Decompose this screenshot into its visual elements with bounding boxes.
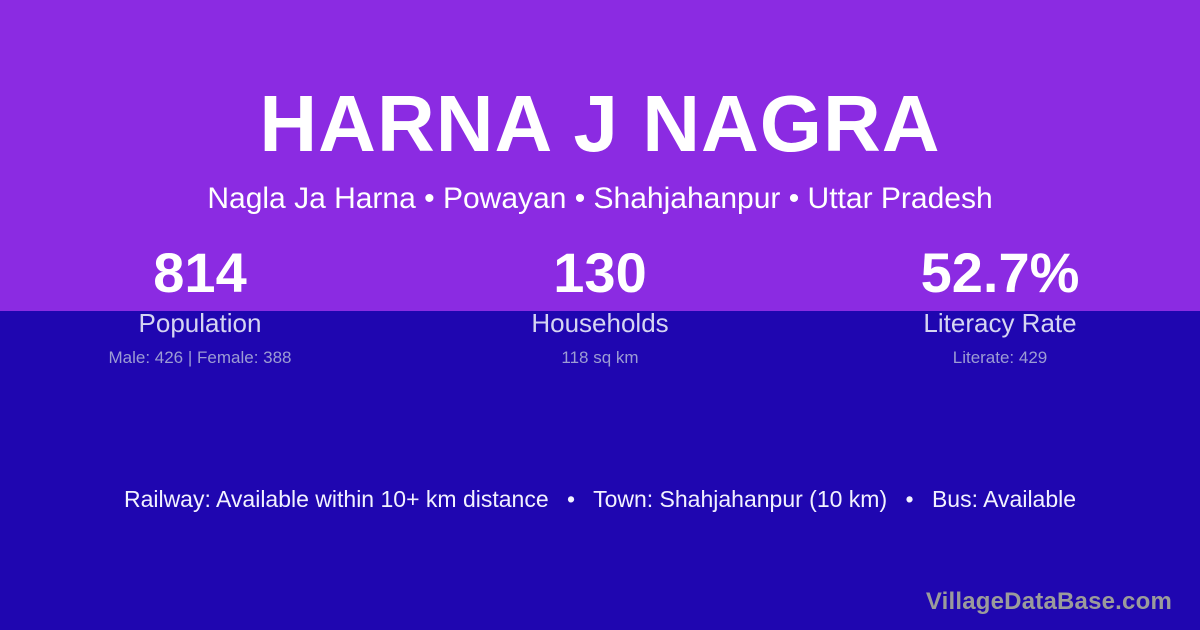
stat-households-value: 130 xyxy=(400,240,800,306)
village-info-card: HARNA J NAGRA Nagla Ja Harna • Powayan •… xyxy=(0,0,1200,630)
stat-literacy-rate: 52.7% Literacy Rate Literate: 429 xyxy=(800,240,1200,369)
page-title: HARNA J NAGRA xyxy=(0,84,1200,164)
stat-households: 130 Households 118 sq km xyxy=(400,240,800,369)
stat-population-value: 814 xyxy=(0,240,400,306)
site-brand: VillageDataBase.com xyxy=(926,587,1172,617)
stat-literacy-rate-value: 52.7% xyxy=(800,240,1200,306)
stat-population-label: Population xyxy=(0,306,400,341)
stat-literacy-rate-label: Literacy Rate xyxy=(800,306,1200,341)
info-separator-2: • xyxy=(894,485,926,515)
info-town: Town: Shahjahanpur (10 km) xyxy=(593,486,887,512)
location-breadcrumb: Nagla Ja Harna • Powayan • Shahjahanpur … xyxy=(0,182,1200,217)
stat-population: 814 Population Male: 426 | Female: 388 xyxy=(0,240,400,369)
stat-literacy-rate-sub: Literate: 429 xyxy=(800,347,1200,369)
stat-households-label: Households xyxy=(400,306,800,341)
info-railway: Railway: Available within 10+ km distanc… xyxy=(124,486,549,512)
stat-population-sub: Male: 426 | Female: 388 xyxy=(0,347,400,369)
info-separator-1: • xyxy=(555,485,587,515)
info-bus: Bus: Available xyxy=(932,486,1076,512)
stat-households-sub: 118 sq km xyxy=(400,347,800,369)
stats-row: 814 Population Male: 426 | Female: 388 1… xyxy=(0,240,1200,369)
amenities-info-line: Railway: Available within 10+ km distanc… xyxy=(0,485,1200,515)
